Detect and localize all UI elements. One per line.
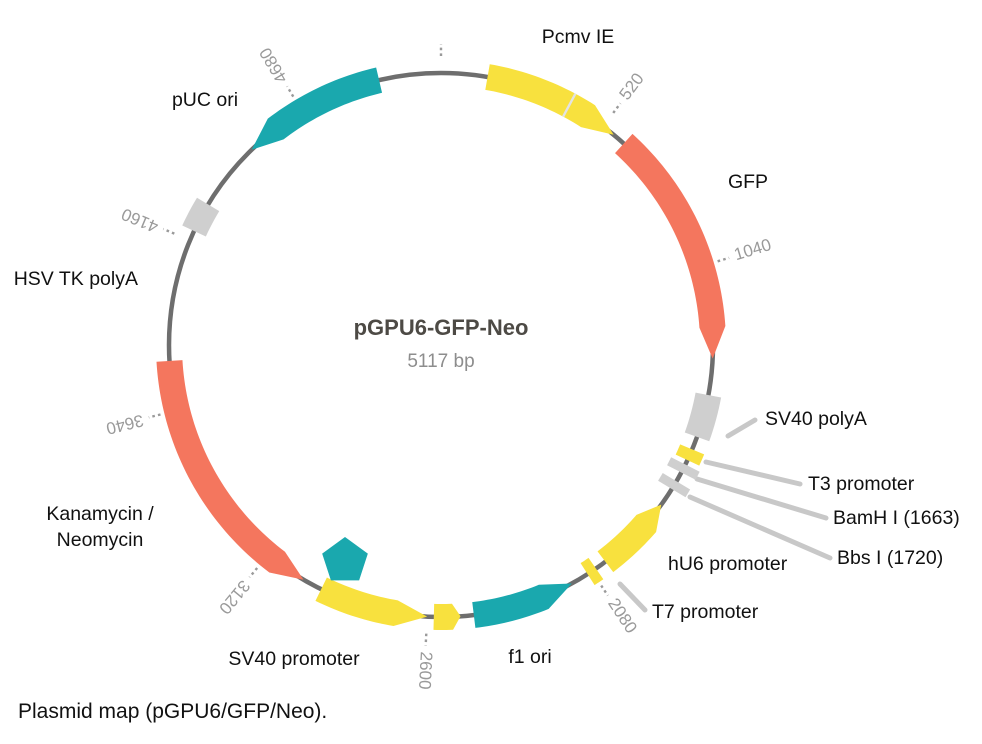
tick-label: 3120 [215,576,254,617]
feature-label-t3-promoter: T3 promoter [808,473,915,495]
feature-bamhi-site[interactable] [669,461,698,476]
feature-hsv-tk-polya[interactable] [182,198,219,237]
feature-label-gfp: GFP [728,171,768,193]
tick-mark [250,568,258,577]
leader-line-bamhi-site [697,479,826,518]
leader-line-bbsi-site [690,497,830,558]
feature-label-bamhi-site: BamH I (1663) [833,507,960,529]
feature-arcs [156,64,725,630]
feature-kanamycin-neomycin[interactable] [156,360,303,580]
tick-label: 2600 [415,651,436,690]
plasmid-map-figure: 5201040208026003120364041604680 Pcmv IEG… [0,0,982,744]
feature-sv40-promoter[interactable] [315,578,427,626]
feature-hu6-promoter[interactable] [598,505,662,572]
plasmid-length-label: 5117 bp [407,351,474,372]
feature-f1-ori-arrowhead[interactable] [433,604,460,630]
tick-label: 520 [616,69,648,103]
feature-label-hu6-promoter: hU6 promoter [668,553,788,575]
feature-label-bbsi-site: Bbs I (1720) [837,547,943,569]
plasmid-name-title: pGPU6-GFP-Neo [354,315,529,340]
feature-bbsi-site[interactable] [660,477,687,493]
plasmid-map-svg: 5201040208026003120364041604680 Pcmv IEG… [0,0,982,744]
tick-label: 4160 [119,204,161,236]
figure-caption: Plasmid map (pGPU6/GFP/Neo). [18,700,327,724]
feature-gfp[interactable] [615,134,725,359]
leader-line-sv40-polya [728,420,755,436]
tick-mark [601,586,608,596]
feature-sv40-polya[interactable] [685,393,721,442]
internal-pentagon-marker[interactable] [322,537,368,580]
feature-t7-promoter[interactable] [581,558,604,585]
feature-label-kanamycin-neomycin: Kanamycin /Neomycin [46,503,154,551]
feature-f1-ori[interactable] [472,583,572,627]
feature-label-puc-ori: pUC ori [172,89,238,111]
leader-line-t3-promoter [706,462,800,484]
feature-label-pcmv-ie: Pcmv IE [542,26,615,48]
feature-label-t7-promoter: T7 promoter [652,601,759,623]
feature-labels: Pcmv IEGFPSV40 polyAT3 promoterBamH I (1… [14,26,960,670]
tick-mark [287,86,293,96]
tick-mark [613,103,620,113]
feature-label-sv40-promoter: SV40 promoter [228,648,360,670]
tick-label: 3640 [104,411,145,439]
tick-label: 4680 [256,44,292,86]
tick-mark [718,258,729,261]
feature-pcmv-ie[interactable] [485,64,613,135]
tick-label: 1040 [732,235,774,264]
tick-mark [163,229,174,234]
feature-label-sv40-polya: SV40 polyA [765,408,867,430]
tick-mark [426,634,427,646]
feature-label-f1-ori: f1 ori [508,646,551,668]
internal-marker [322,537,368,580]
feature-label-hsv-tk-polya: HSV TK polyA [14,268,138,290]
tick-mark [149,414,161,417]
tick-marks [149,44,729,646]
